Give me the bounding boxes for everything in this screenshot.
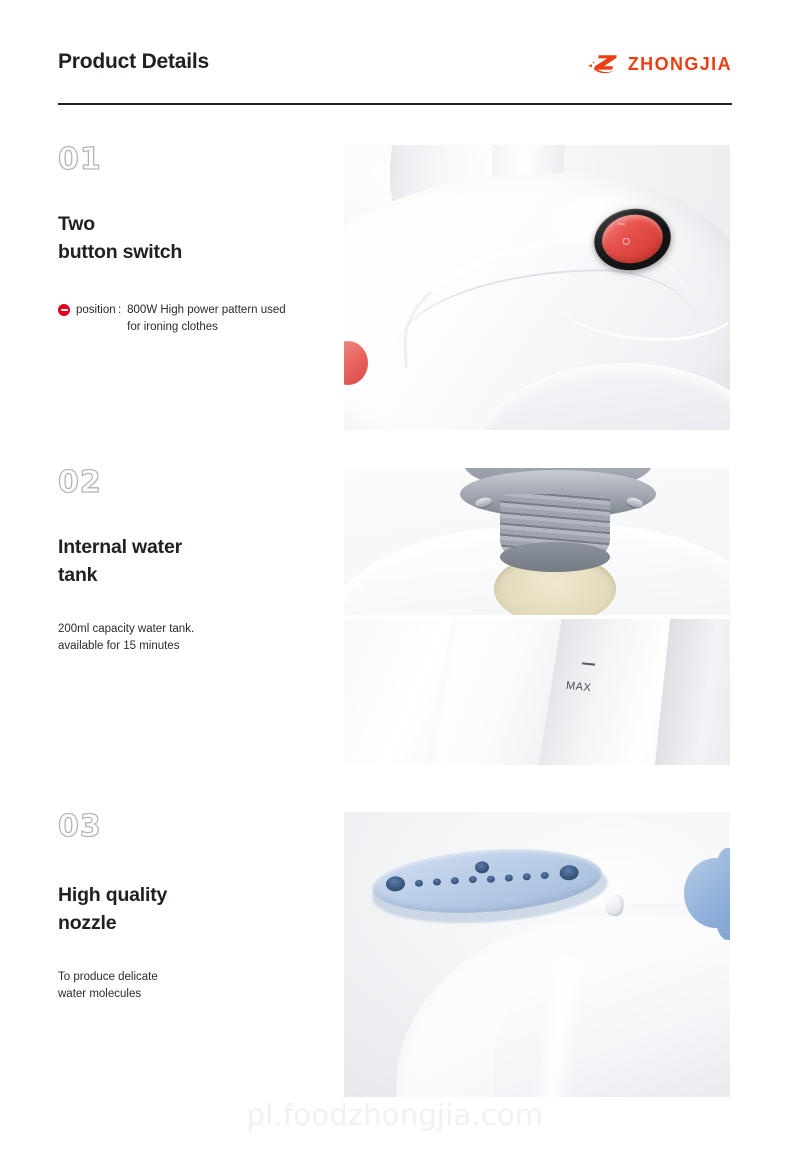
header-divider <box>58 103 732 105</box>
section-internal-water-tank: 02 Internal water tank 200ml capacity wa… <box>0 468 790 768</box>
section-3-heading-line2: nozzle <box>58 910 333 938</box>
section-2-heading-line2: tank <box>58 562 333 590</box>
product-details-page: Product Details ZHONGJIA 01 Two button s… <box>0 0 790 1158</box>
section-2-number: 02 <box>58 468 333 498</box>
section-1-bullet-label: position : <box>76 302 121 319</box>
max-level-label: MAX <box>565 680 591 695</box>
brand-wordmark: ZHONGJIA <box>628 55 732 73</box>
photo-tank-cap <box>344 468 730 615</box>
section-3-number: 03 <box>58 812 333 842</box>
zhongjia-z-star-logo-icon <box>587 52 621 76</box>
photo-steam-nozzle <box>344 812 730 1097</box>
section-1-bullet: position : 800W High power pattern used … <box>58 302 333 335</box>
section-button-switch: 01 Two button switch position : 800W Hig… <box>0 145 790 445</box>
section-1-bullet-line1: 800W High power pattern used <box>127 304 286 316</box>
section-high-quality-nozzle: 03 High quality nozzle To produce delica… <box>0 812 790 1102</box>
section-1-bullet-line2: for ironing clothes <box>127 321 218 333</box>
footer-watermark: pl.foodzhongjia.com <box>0 1098 790 1132</box>
section-1-bullet-body: 800W High power pattern used for ironing… <box>127 302 286 335</box>
section-2-heading-line1: Internal water <box>58 534 333 562</box>
brand-logo: ZHONGJIA <box>587 46 732 76</box>
photo-button-switch: I O <box>344 145 730 430</box>
section-1-number: 01 <box>58 145 333 175</box>
section-1-text: 01 Two button switch position : 800W Hig… <box>58 145 333 336</box>
switch-on-marking: I <box>617 222 628 225</box>
section-3-desc-line2: water molecules <box>58 986 333 1003</box>
section-3-heading-line1: High quality <box>58 882 333 910</box>
photo-max-water-level: MAX <box>344 619 730 765</box>
section-3-text: 03 High quality nozzle To produce delica… <box>58 812 333 1003</box>
switch-off-marking: O <box>622 237 633 245</box>
section-1-heading-line2: button switch <box>58 239 333 267</box>
page-header: Product Details ZHONGJIA <box>58 46 732 104</box>
section-1-heading-line1: Two <box>58 211 333 239</box>
section-2-desc-line2: available for 15 minutes <box>58 638 333 655</box>
page-title: Product Details <box>58 46 209 72</box>
minus-circle-icon <box>58 304 70 316</box>
section-3-desc-line1: To produce delicate <box>58 969 333 986</box>
section-2-desc-line1: 200ml capacity water tank. <box>58 621 333 638</box>
section-2-text: 02 Internal water tank 200ml capacity wa… <box>58 468 333 655</box>
